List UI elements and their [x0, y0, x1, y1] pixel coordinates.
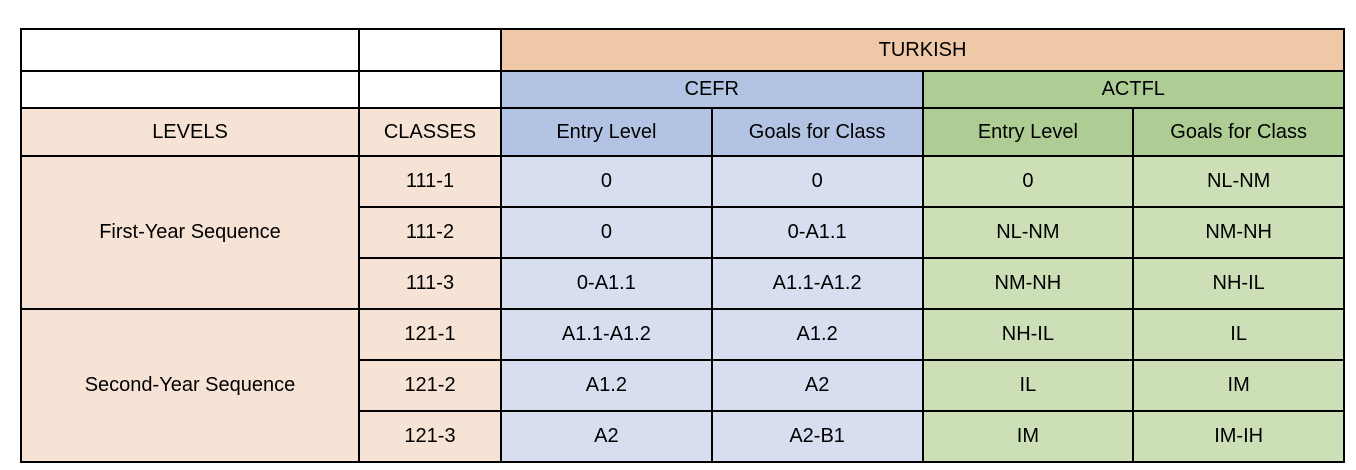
- actfl-goals-for-class: IM-IH: [1133, 411, 1344, 462]
- framework-header-actfl: ACTFL: [923, 71, 1345, 108]
- spacer-cell-levels-2: [21, 71, 359, 108]
- spacer-cell-classes: [359, 29, 501, 71]
- class-code: 121-3: [359, 411, 501, 462]
- class-code: 111-3: [359, 258, 501, 309]
- column-header-classes: CLASSES: [359, 108, 501, 156]
- class-code: 121-1: [359, 309, 501, 360]
- cefr-entry-level: 0: [501, 156, 712, 207]
- actfl-goals-for-class: NH-IL: [1133, 258, 1344, 309]
- class-code: 121-2: [359, 360, 501, 411]
- column-header-row: LEVELS CLASSES Entry Level Goals for Cla…: [21, 108, 1344, 156]
- language-header-row: TURKISH: [21, 29, 1344, 71]
- cefr-goals-for-class: A1.2: [712, 309, 923, 360]
- actfl-entry-level: NL-NM: [923, 207, 1134, 258]
- column-header-levels: LEVELS: [21, 108, 359, 156]
- cefr-entry-level: A1.1-A1.2: [501, 309, 712, 360]
- actfl-goals-for-class: IL: [1133, 309, 1344, 360]
- framework-header-row: CEFR ACTFL: [21, 71, 1344, 108]
- actfl-goals-for-class: IM: [1133, 360, 1344, 411]
- actfl-entry-level: IM: [923, 411, 1134, 462]
- curriculum-alignment-table: TURKISH CEFR ACTFL LEVELS CLASSES Entry …: [20, 28, 1345, 463]
- class-code: 111-2: [359, 207, 501, 258]
- framework-header-cefr: CEFR: [501, 71, 923, 108]
- column-header-cefr-goals-for-class: Goals for Class: [712, 108, 923, 156]
- actfl-entry-level: NM-NH: [923, 258, 1134, 309]
- class-code: 111-1: [359, 156, 501, 207]
- actfl-entry-level: 0: [923, 156, 1134, 207]
- spacer-cell-classes-2: [359, 71, 501, 108]
- spacer-cell-levels: [21, 29, 359, 71]
- actfl-goals-for-class: NM-NH: [1133, 207, 1344, 258]
- table-row: First-Year Sequence 111-1 0 0 0 NL-NM: [21, 156, 1344, 207]
- actfl-entry-level: IL: [923, 360, 1134, 411]
- curriculum-table-container: TURKISH CEFR ACTFL LEVELS CLASSES Entry …: [20, 28, 1343, 463]
- cefr-entry-level: 0: [501, 207, 712, 258]
- cefr-goals-for-class: A2: [712, 360, 923, 411]
- column-header-cefr-entry-level: Entry Level: [501, 108, 712, 156]
- actfl-entry-level: NH-IL: [923, 309, 1134, 360]
- actfl-goals-for-class: NL-NM: [1133, 156, 1344, 207]
- language-header-turkish: TURKISH: [501, 29, 1344, 71]
- column-header-actfl-entry-level: Entry Level: [923, 108, 1134, 156]
- level-group-second-year: Second-Year Sequence: [21, 309, 359, 462]
- level-group-first-year: First-Year Sequence: [21, 156, 359, 309]
- cefr-entry-level: A2: [501, 411, 712, 462]
- cefr-entry-level: A1.2: [501, 360, 712, 411]
- cefr-entry-level: 0-A1.1: [501, 258, 712, 309]
- cefr-goals-for-class: 0: [712, 156, 923, 207]
- table-row: Second-Year Sequence 121-1 A1.1-A1.2 A1.…: [21, 309, 1344, 360]
- column-header-actfl-goals-for-class: Goals for Class: [1133, 108, 1344, 156]
- cefr-goals-for-class: 0-A1.1: [712, 207, 923, 258]
- cefr-goals-for-class: A2-B1: [712, 411, 923, 462]
- cefr-goals-for-class: A1.1-A1.2: [712, 258, 923, 309]
